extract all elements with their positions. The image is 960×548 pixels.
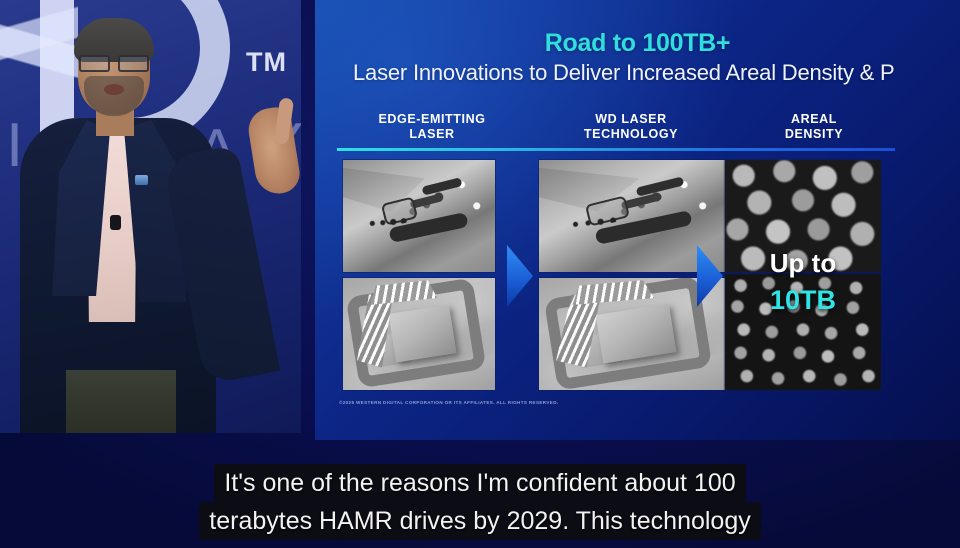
column-header-line2: LASER xyxy=(337,127,527,142)
edge-emitting-laser-sem-image-top xyxy=(343,160,495,272)
presentation-slide: Road to 100TB+ Laser Innovations to Deli… xyxy=(315,0,960,440)
column-header-line1: EDGE-EMITTING xyxy=(337,112,527,127)
slide-title: Road to 100TB+ xyxy=(315,29,960,58)
column-header-edge-emitting-laser: EDGE-EMITTING LASER xyxy=(337,112,527,160)
screen: TM I A Y Road to 100TB+ Laser Innov xyxy=(0,0,960,548)
slide-subtitle: Laser Innovations to Deliver Increased A… xyxy=(353,60,895,86)
lapel-microphone-icon xyxy=(110,215,121,230)
column-header-line1: AREAL xyxy=(729,112,899,127)
video-caption: It's one of the reasons I'm confident ab… xyxy=(0,464,960,540)
edge-emitting-laser-sem-image-bottom xyxy=(343,278,495,390)
column-header-wd-laser-technology: WD LASER TECHNOLOGY xyxy=(533,112,729,160)
column-headers: EDGE-EMITTING LASER WD LASER TECHNOLOGY … xyxy=(337,112,899,160)
column-header-line2: DENSITY xyxy=(729,127,899,142)
speaker-raised-hand xyxy=(246,105,301,197)
speaker-trousers xyxy=(66,370,176,433)
speaker-mouth xyxy=(104,84,124,95)
column-header-line2: TECHNOLOGY xyxy=(533,127,729,142)
speaker-beard xyxy=(84,76,144,116)
areal-density-grain-image-coarse xyxy=(725,160,881,272)
caption-line-2: terabytes HAMR drives by 2029. This tech… xyxy=(199,502,760,540)
speaker-glasses-icon xyxy=(79,55,149,68)
copyright-notice: ©2025 WESTERN DIGITAL CORPORATION OR ITS… xyxy=(339,400,559,405)
areal-density-grain-image-fine xyxy=(725,274,881,390)
caption-line-1: It's one of the reasons I'm confident ab… xyxy=(214,464,745,502)
column-header-areal-density: AREAL DENSITY xyxy=(729,112,899,160)
speaker-figure xyxy=(0,0,301,433)
speaker-video-feed: TM I A Y xyxy=(0,0,301,433)
header-divider-line xyxy=(337,148,895,151)
arrow-right-icon-1 xyxy=(507,245,533,307)
column-header-line1: WD LASER xyxy=(533,112,729,127)
speaker-lapel-pin xyxy=(135,175,148,185)
